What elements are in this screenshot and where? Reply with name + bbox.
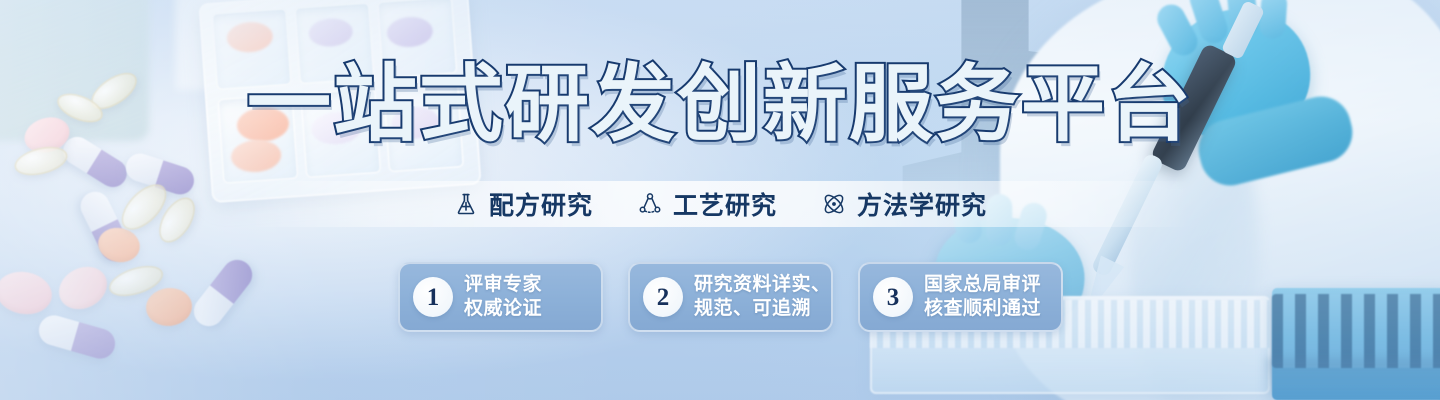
feature-cards: 1 评审专家 权威论证 2 研究资料详实、 规范、可追溯 3 国家总局审评 核查… (398, 262, 1063, 332)
feature-number-badge: 1 (413, 277, 453, 317)
research-area-label: 方法学研究 (857, 186, 987, 222)
feature-card-2[interactable]: 2 研究资料详实、 规范、可追溯 (628, 262, 833, 332)
feature-card-line2: 规范、可追溯 (694, 297, 831, 321)
banner-headline: 一站式研发创新服务平台 (0, 62, 1440, 146)
feature-card-text: 研究资料详实、 规范、可追溯 (694, 273, 831, 320)
feature-card-line1: 研究资料详实、 (694, 273, 831, 297)
feature-card-line2: 核查顺利通过 (924, 297, 1041, 321)
feature-number-badge: 3 (873, 277, 913, 317)
molecule-icon (637, 191, 663, 217)
research-area-process[interactable]: 工艺研究 (637, 186, 777, 222)
feature-card-line2: 权威论证 (464, 297, 542, 321)
research-area-label: 工艺研究 (673, 186, 777, 222)
atom-icon (821, 191, 847, 217)
research-area-methodology[interactable]: 方法学研究 (821, 186, 987, 222)
feature-card-3[interactable]: 3 国家总局审评 核查顺利通过 (858, 262, 1063, 332)
feature-card-line1: 评审专家 (464, 273, 542, 297)
feature-number-badge: 2 (643, 277, 683, 317)
feature-card-text: 国家总局审评 核查顺利通过 (924, 273, 1041, 320)
feature-card-1[interactable]: 1 评审专家 权威论证 (398, 262, 603, 332)
feature-card-line1: 国家总局审评 (924, 273, 1041, 297)
research-area-label: 配方研究 (489, 186, 593, 222)
banner-content: 一站式研发创新服务平台 配方研究 (0, 0, 1440, 400)
research-area-formulation[interactable]: 配方研究 (453, 186, 593, 222)
flask-icon (453, 191, 479, 217)
research-areas-strip: 配方研究 工艺研究 (250, 181, 1190, 227)
feature-card-text: 评审专家 权威论证 (464, 273, 542, 320)
promo-banner: 一站式研发创新服务平台 配方研究 (0, 0, 1440, 400)
